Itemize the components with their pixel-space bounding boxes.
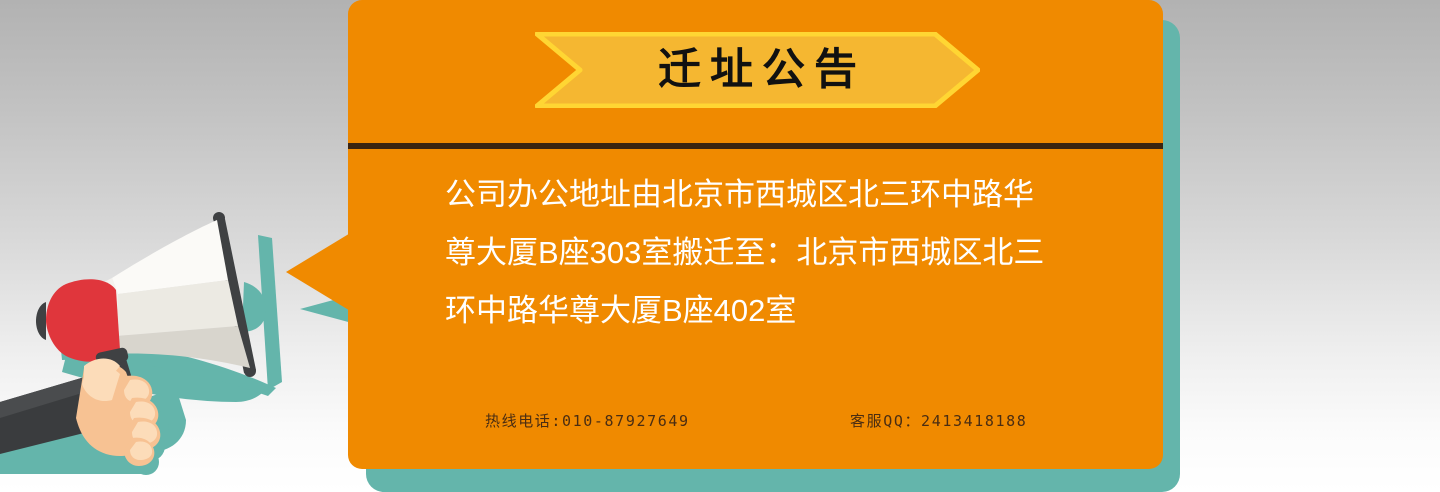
announcement-line: 环中路华尊大厦B座402室 — [445, 282, 1105, 340]
megaphone-back-cap — [36, 302, 46, 340]
announcement-line: 公司办公地址由北京市西城区北三环中路华 — [445, 166, 1105, 224]
announcement-banner: 迁址公告 公司办公地址由北京市西城区北三环中路华 尊大厦B座303室搬迁至：北京… — [0, 0, 1440, 492]
megaphone-body — [46, 279, 120, 361]
announcement-body: 公司办公地址由北京市西城区北三环中路华 尊大厦B座303室搬迁至：北京市西城区北… — [445, 166, 1105, 340]
divider-line — [348, 143, 1163, 149]
title-ribbon: 迁址公告 — [535, 32, 980, 108]
page-title: 迁址公告 — [535, 32, 980, 108]
customer-service-qq-text: 客服QQ：2413418188 — [850, 410, 1027, 431]
footer-contacts: 热线电话:010-87927649 客服QQ：2413418188 — [348, 410, 1163, 436]
announcement-line: 尊大厦B座303室搬迁至：北京市西城区北三 — [445, 224, 1105, 282]
hotline-text: 热线电话:010-87927649 — [485, 410, 690, 431]
speech-tail — [286, 232, 352, 312]
